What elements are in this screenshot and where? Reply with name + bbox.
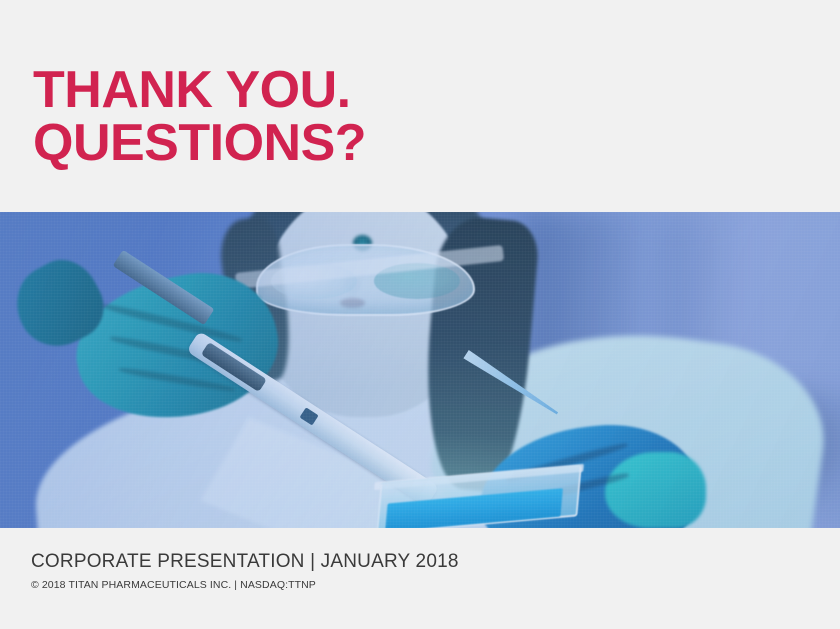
presentation-label: CORPORATE PRESENTATION | JANUARY 2018 [31, 551, 459, 573]
footer: CORPORATE PRESENTATION | JANUARY 2018 © … [0, 528, 840, 629]
title-line-1: THANK YOU. [33, 64, 593, 117]
photo-stage [0, 212, 840, 528]
footer-text-group: CORPORATE PRESENTATION | JANUARY 2018 © … [31, 551, 459, 592]
page-title: THANK YOU. QUESTIONS? [33, 64, 593, 170]
hero-photo [0, 212, 840, 528]
title-line-2: QUESTIONS? [33, 117, 593, 170]
photo-texture-overlay [0, 212, 840, 528]
slide-root: THANK YOU. QUESTIONS? [0, 0, 840, 629]
copyright-label: © 2018 TITAN PHARMACEUTICALS INC. | NASD… [31, 579, 459, 592]
